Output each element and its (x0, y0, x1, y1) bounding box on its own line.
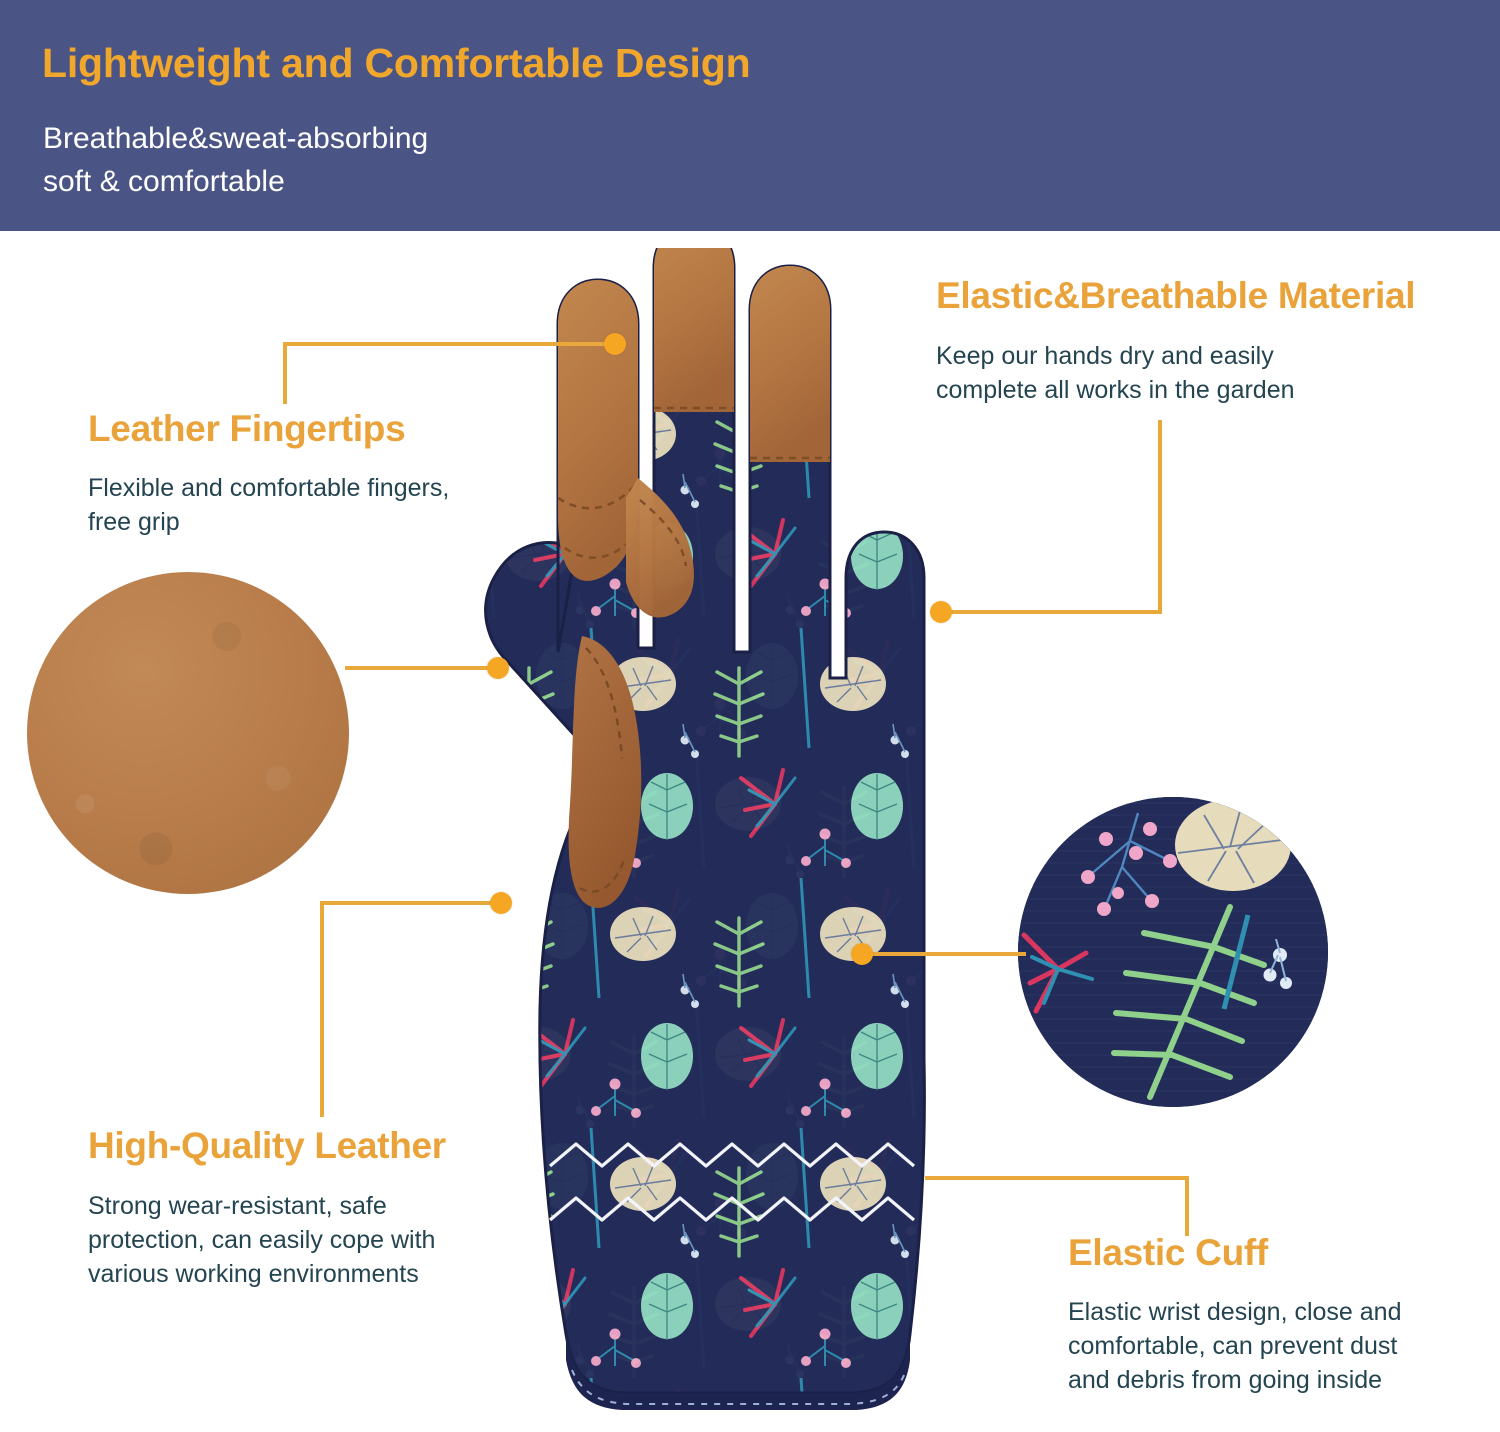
callout-title-elastic-breathable-material: Elastic&Breathable Material (936, 275, 1415, 317)
banner-title: Lightweight and Comfortable Design (42, 40, 750, 87)
connector-line-fingertips (283, 342, 621, 346)
connector-line-leather-swatch (345, 666, 505, 670)
connector-dot-fingertips (604, 333, 626, 355)
connector-line-elastic-material (948, 610, 1162, 614)
connector-dot-fabric-swatch (851, 943, 873, 965)
connector-line-fingertips-vertical (283, 342, 287, 404)
connector-line-fabric-swatch (870, 952, 1026, 956)
callout-body-elastic-cuff: Elastic wrist design, close and comforta… (1068, 1296, 1401, 1397)
leather-fingertip-middle (654, 248, 734, 412)
glove-product-image (390, 248, 1010, 1432)
connector-line-elastic-cuff-vertical (1185, 1176, 1189, 1236)
fabric-swatch-art (1018, 797, 1328, 1107)
callout-title-high-quality-leather: High-Quality Leather (88, 1125, 446, 1167)
connector-line-high-quality-leather-vertical (320, 901, 324, 1117)
connector-dot-elastic-material (930, 601, 952, 623)
leather-fingertip-ring (750, 266, 830, 462)
connector-dot-leather-swatch (487, 657, 509, 679)
banner-subtitle: Breathable&sweat-absorbing soft & comfor… (43, 118, 428, 203)
connector-line-high-quality-leather (320, 901, 505, 905)
callout-title-elastic-cuff: Elastic Cuff (1068, 1232, 1268, 1274)
glove-illustration (390, 248, 1010, 1432)
callout-body-elastic-breathable-material: Keep our hands dry and easily complete a… (936, 340, 1295, 408)
connector-line-elastic-material-vertical (1158, 420, 1162, 614)
callout-body-high-quality-leather: Strong wear-resistant, safe protection, … (88, 1190, 435, 1291)
header-banner: Lightweight and Comfortable Design Breat… (0, 0, 1500, 231)
connector-dot-high-quality-leather (490, 892, 512, 914)
callout-body-leather-fingertips: Flexible and comfortable fingers, free g… (88, 472, 449, 540)
callout-title-leather-fingertips: Leather Fingertips (88, 408, 405, 450)
fabric-detail-circle (1018, 797, 1328, 1107)
leather-detail-circle (27, 572, 349, 894)
connector-line-elastic-cuff (925, 1176, 1189, 1180)
